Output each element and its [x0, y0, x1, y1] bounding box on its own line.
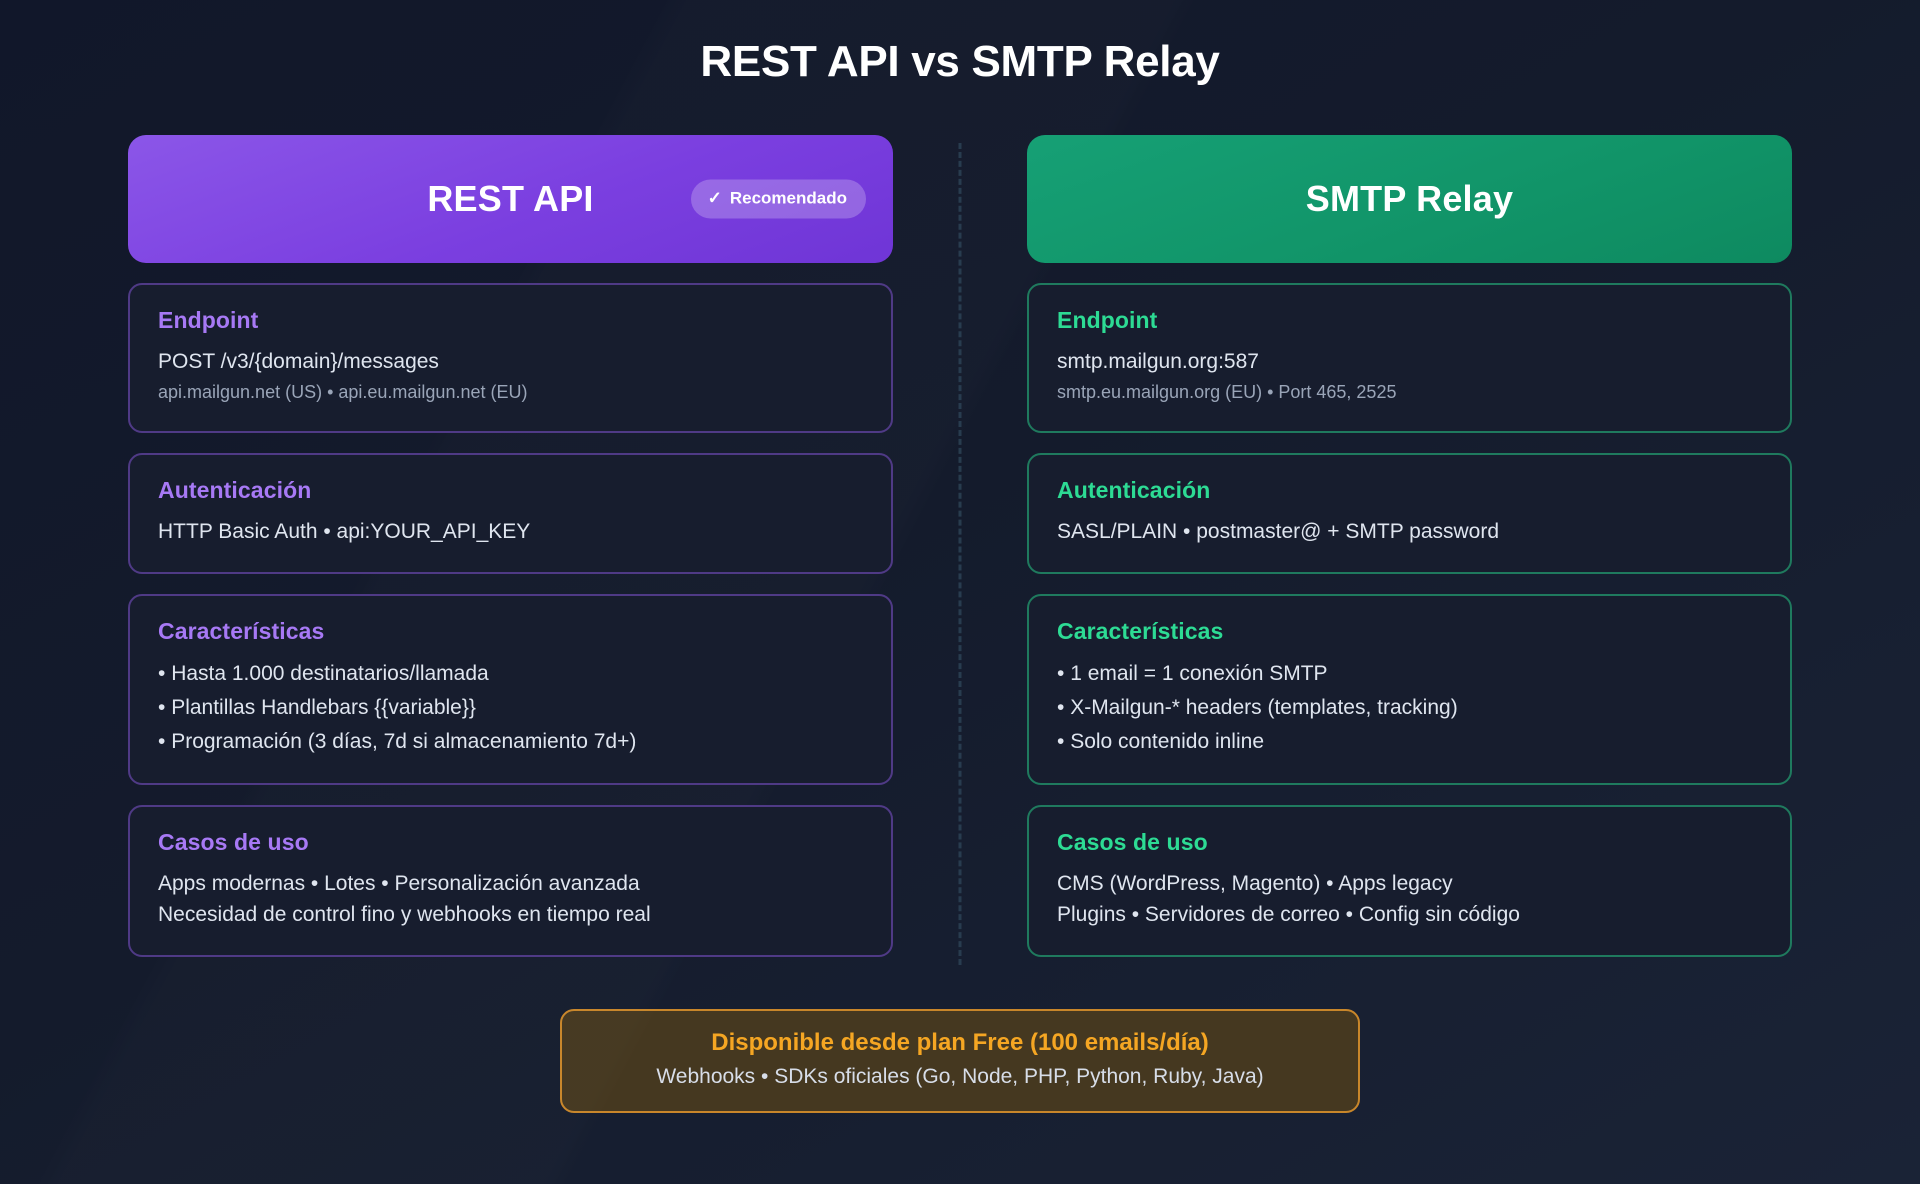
endpoint-primary: smtp.mailgun.org:587	[1057, 346, 1762, 378]
card-title: Características	[1057, 618, 1762, 645]
card-title: Endpoint	[158, 307, 863, 334]
usecases-primary: Apps modernas • Lotes • Personalización …	[158, 868, 863, 900]
auth-primary: HTTP Basic Auth • api:YOUR_API_KEY	[158, 516, 863, 548]
usecases-primary: CMS (WordPress, Magento) • Apps legacy	[1057, 868, 1762, 900]
page-title: REST API vs SMTP Relay	[0, 0, 1920, 89]
card-usecases-rest-api: Casos de uso Apps modernas • Lotes • Per…	[128, 805, 893, 957]
card-features-rest-api: Características Hasta 1.000 destinatario…	[128, 594, 893, 785]
auth-primary: SASL/PLAIN • postmaster@ + SMTP password	[1057, 516, 1762, 548]
card-title: Características	[158, 618, 863, 645]
usecases-secondary: Necesidad de control fino y webhooks en …	[158, 899, 863, 931]
footer-title: Disponible desde plan Free (100 emails/d…	[586, 1027, 1334, 1059]
endpoint-primary: POST /v3/{domain}/messages	[158, 346, 863, 378]
card-usecases-smtp-relay: Casos de uso CMS (WordPress, Magento) • …	[1027, 805, 1792, 957]
list-item: 1 email = 1 conexión SMTP	[1057, 657, 1762, 691]
endpoint-secondary: api.mailgun.net (US) • api.eu.mailgun.ne…	[158, 379, 863, 407]
card-features-smtp-relay: Características 1 email = 1 conexión SMT…	[1027, 594, 1792, 785]
list-item: X-Mailgun-* headers (templates, tracking…	[1057, 691, 1762, 725]
recommended-badge: ✓ Recomendado	[691, 179, 866, 218]
card-endpoint-rest-api: Endpoint POST /v3/{domain}/messages api.…	[128, 283, 893, 433]
endpoint-secondary: smtp.eu.mailgun.org (EU) • Port 465, 252…	[1057, 379, 1762, 407]
list-item: Plantillas Handlebars {{variable}}	[158, 691, 863, 725]
list-item: Solo contenido inline	[1057, 725, 1762, 759]
footer-banner-wrap: Disponible desde plan Free (100 emails/d…	[0, 1009, 1920, 1113]
card-title: Autenticación	[158, 477, 863, 504]
column-header-rest-api: REST API ✓ Recomendado	[128, 135, 893, 263]
usecases-secondary: Plugins • Servidores de correo • Config …	[1057, 899, 1762, 931]
footer-subtitle: Webhooks • SDKs oficiales (Go, Node, PHP…	[586, 1062, 1334, 1092]
card-title: Autenticación	[1057, 477, 1762, 504]
list-item: Programación (3 días, 7d si almacenamien…	[158, 725, 863, 759]
card-title: Casos de uso	[158, 829, 863, 856]
features-list: 1 email = 1 conexión SMTP X-Mailgun-* he…	[1057, 657, 1762, 759]
column-header-smtp-relay: SMTP Relay	[1027, 135, 1792, 263]
column-header-title-smtp-relay: SMTP Relay	[1306, 178, 1513, 220]
comparison-columns: REST API ✓ Recomendado Endpoint POST /v3…	[0, 135, 1920, 957]
card-title: Casos de uso	[1057, 829, 1762, 856]
card-endpoint-smtp-relay: Endpoint smtp.mailgun.org:587 smtp.eu.ma…	[1027, 283, 1792, 433]
comparison-page: REST API vs SMTP Relay REST API ✓ Recome…	[0, 0, 1920, 1184]
card-auth-rest-api: Autenticación HTTP Basic Auth • api:YOUR…	[128, 453, 893, 574]
recommended-badge-label: Recomendado	[730, 188, 847, 208]
column-smtp-relay: SMTP Relay Endpoint smtp.mailgun.org:587…	[1027, 135, 1792, 957]
card-title: Endpoint	[1057, 307, 1762, 334]
card-auth-smtp-relay: Autenticación SASL/PLAIN • postmaster@ +…	[1027, 453, 1792, 574]
footer-banner: Disponible desde plan Free (100 emails/d…	[560, 1009, 1360, 1113]
list-item: Hasta 1.000 destinatarios/llamada	[158, 657, 863, 691]
column-rest-api: REST API ✓ Recomendado Endpoint POST /v3…	[128, 135, 893, 957]
features-list: Hasta 1.000 destinatarios/llamada Planti…	[158, 657, 863, 759]
check-icon: ✓	[708, 190, 722, 207]
column-header-title-rest-api: REST API	[427, 178, 593, 220]
column-divider	[959, 143, 962, 965]
